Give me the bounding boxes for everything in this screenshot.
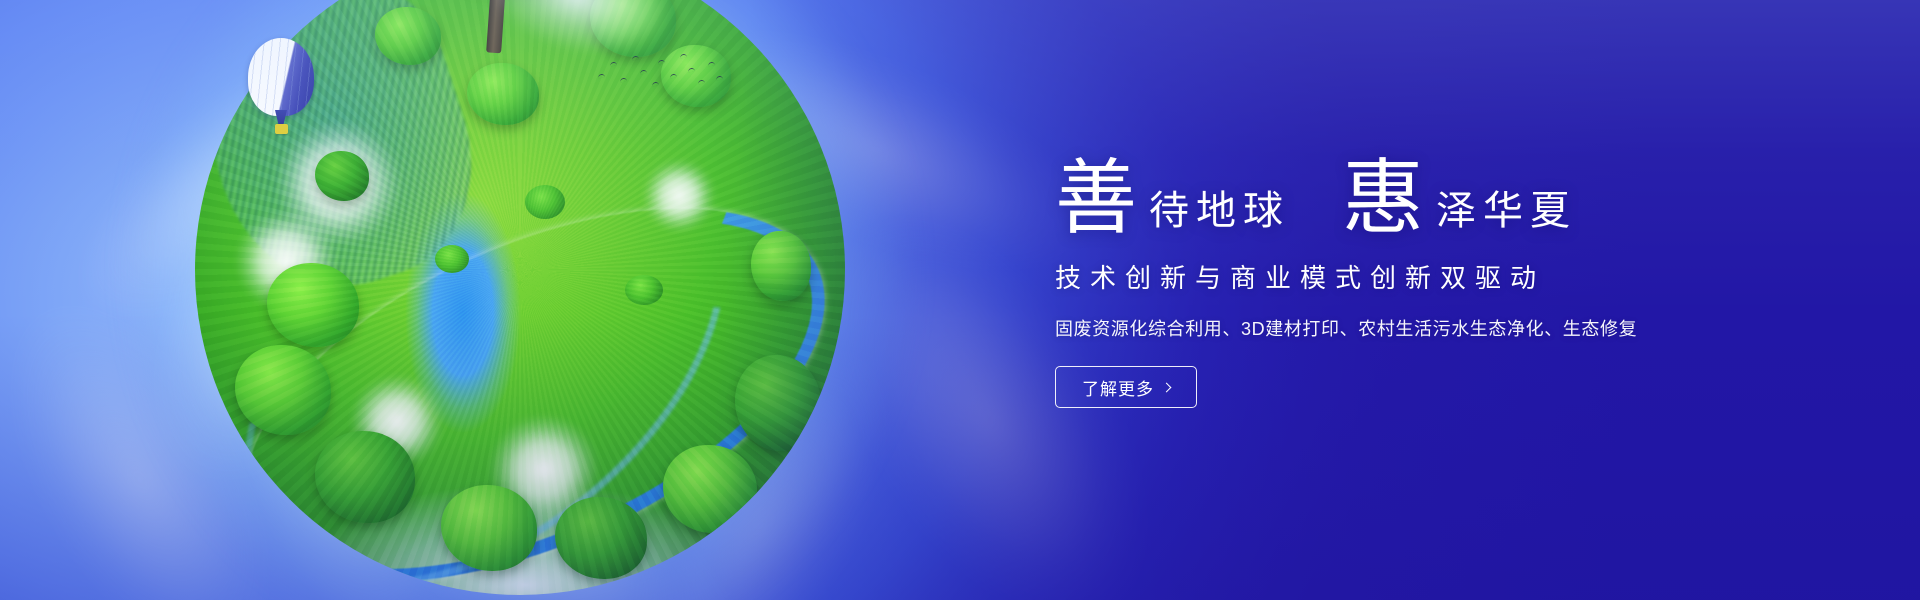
headline: 善 待地球 惠 泽华夏 — [1055, 140, 1775, 236]
headline-lead-char-2: 惠 — [1342, 161, 1424, 236]
headline-rest-1: 待地球 — [1137, 191, 1290, 236]
learn-more-label: 了解更多 — [1082, 375, 1154, 400]
hero-banner: 善 待地球 惠 泽华夏 技术创新与商业模式创新双驱动 固废资源化综合利用、3D建… — [0, 0, 1920, 600]
learn-more-button[interactable]: 了解更多 — [1055, 366, 1197, 408]
description: 固废资源化综合利用、3D建材打印、农村生活污水生态净化、生态修复 — [1055, 315, 1775, 341]
hero-copy: 善 待地球 惠 泽华夏 技术创新与商业模式创新双驱动 固废资源化综合利用、3D建… — [1055, 140, 1775, 408]
subtitle: 技术创新与商业模式创新双驱动 — [1055, 258, 1775, 295]
headline-rest-2: 泽华夏 — [1424, 191, 1577, 236]
headline-lead-char-1: 善 — [1055, 161, 1137, 236]
chevron-right-icon — [1162, 382, 1172, 392]
